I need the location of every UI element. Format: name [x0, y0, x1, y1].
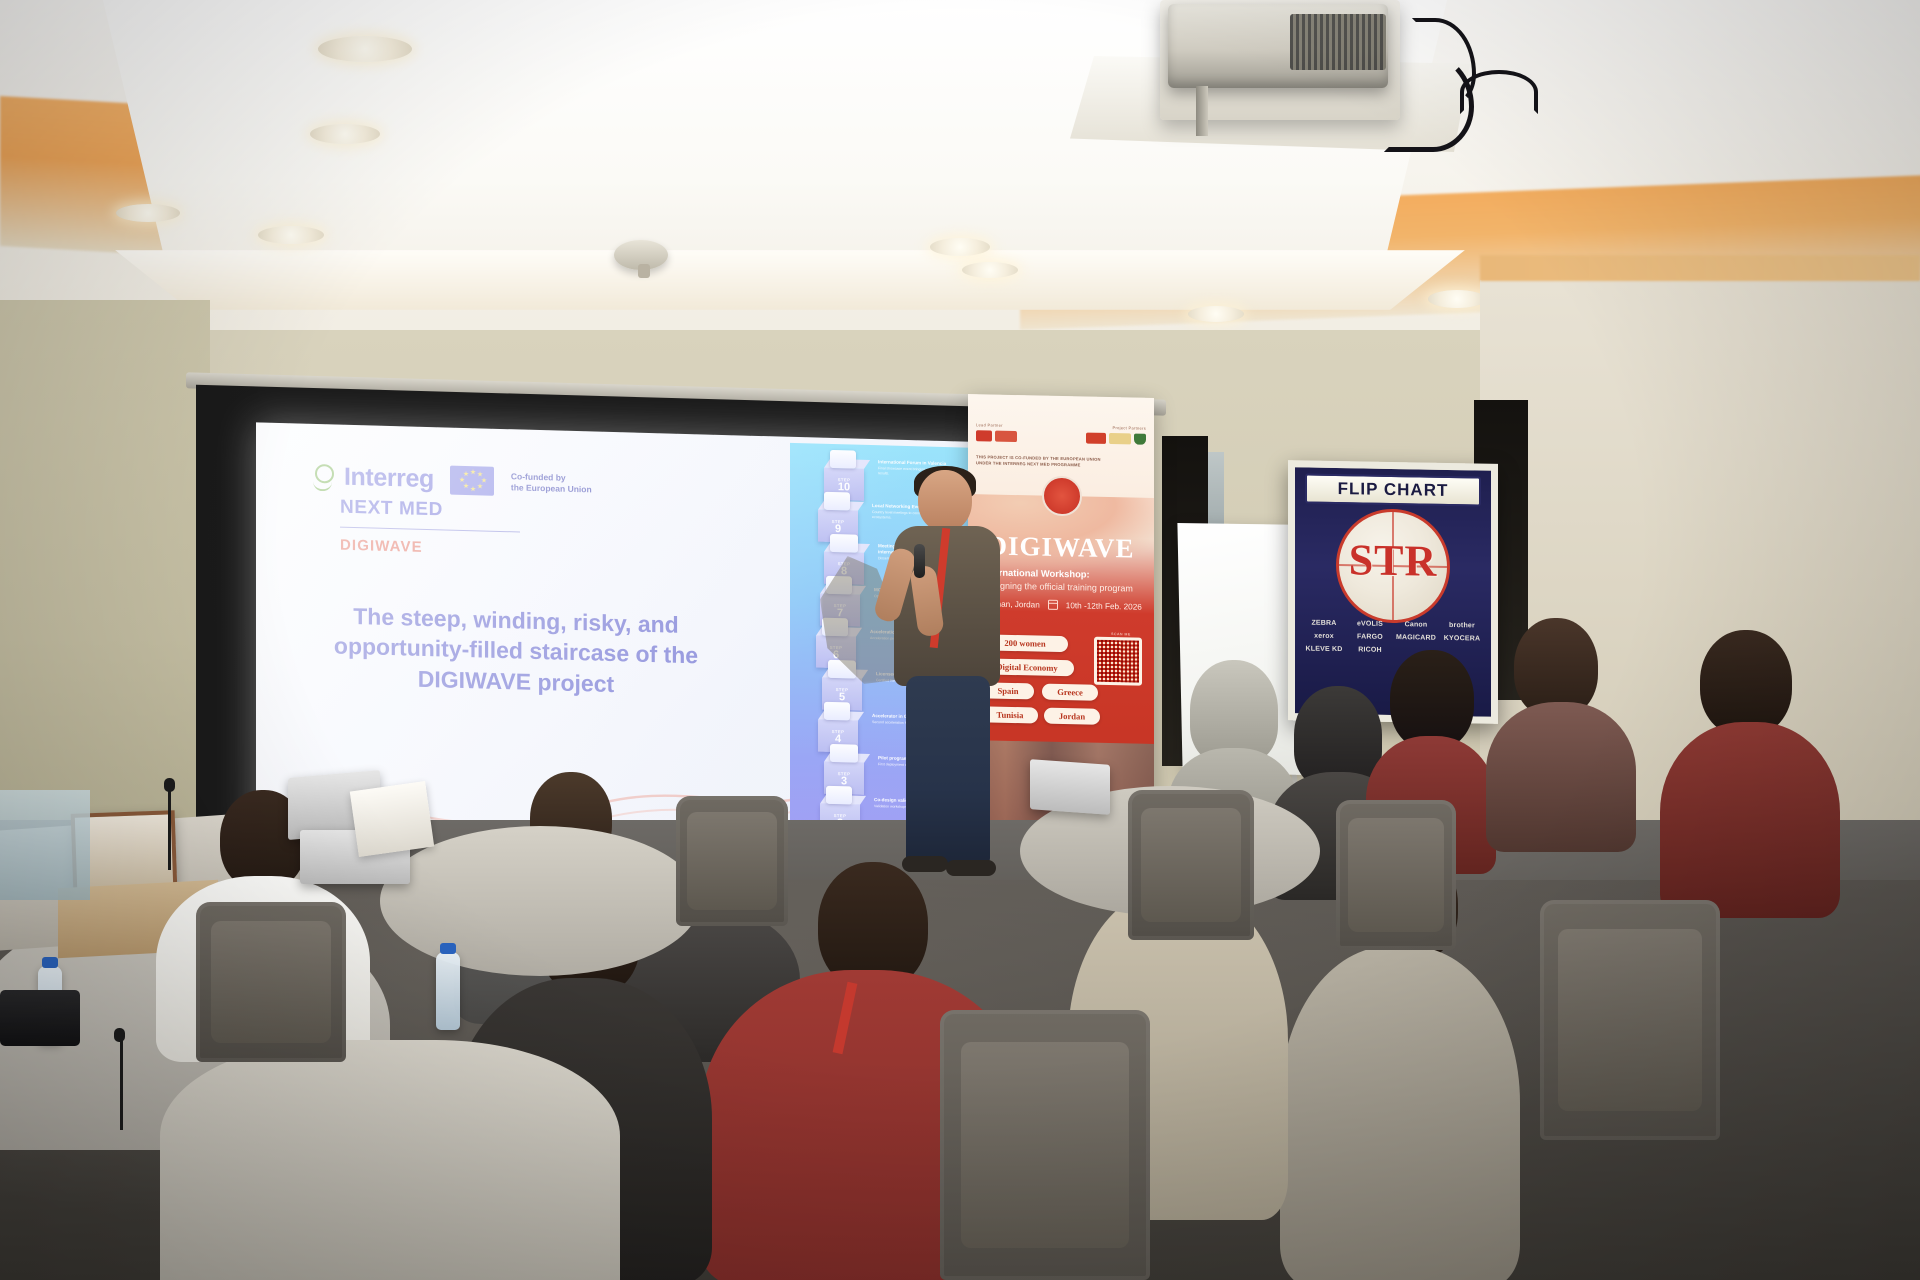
presenter	[880, 470, 1020, 880]
partner-logo-4	[1109, 433, 1131, 444]
bottle-cap	[42, 957, 58, 968]
ceiling-sprinkler	[638, 264, 650, 278]
calendar-icon	[1048, 600, 1058, 610]
logo-divider	[340, 527, 520, 533]
microphone-stand-left-2	[120, 1040, 123, 1130]
brand-logo-6: MAGICARD	[1395, 634, 1437, 642]
audience-head	[1700, 630, 1792, 736]
brand-logo-2: Canon	[1395, 621, 1437, 629]
downlight-8	[1188, 306, 1244, 322]
interreg-logo-lockup: Interreg ★ ★ ★ ★ ★ ★ ★ ★ Co-funded by	[312, 462, 592, 499]
step-number-9: STEP 9	[818, 519, 858, 536]
camera-foreground	[0, 990, 80, 1046]
banner-funding-note: THIS PROJECT IS CO-FUNDED BY THE EUROPEA…	[976, 454, 1126, 469]
chair-front-right	[1540, 900, 1720, 1140]
banner-partner-logos: Lead Partner Project Partners	[976, 422, 1146, 445]
brand-logo-4: xerox	[1303, 632, 1345, 640]
programme-name: NEXT MED	[340, 497, 443, 522]
chair-back-pad	[1141, 808, 1242, 922]
chair-back-pad	[961, 1042, 1129, 1247]
laptop-right	[1030, 759, 1110, 815]
interreg-mark-icon	[312, 463, 334, 490]
audience-member-far-right	[1486, 618, 1636, 848]
qr-code-icon	[1094, 637, 1142, 686]
step-number-4: STEP 4	[818, 729, 858, 746]
slide-title: The steep, winding, risky, and opportuni…	[296, 599, 736, 702]
partner-logo-2	[995, 431, 1017, 442]
projector-cable-3	[1460, 70, 1538, 114]
str-logo-wordmark: STR	[1349, 534, 1438, 587]
chair-back-pad	[1558, 929, 1702, 1111]
brand-logo-3: brother	[1441, 622, 1483, 630]
left-wall	[0, 300, 210, 860]
round-table-front	[160, 1040, 620, 1280]
audience-body	[1486, 702, 1636, 852]
audience-head	[1390, 650, 1474, 750]
audience-body	[1280, 946, 1520, 1280]
banner-pill-5: Jordan	[1044, 708, 1100, 725]
audience-body	[1660, 722, 1840, 918]
brand-logo-5: FARGO	[1349, 633, 1391, 641]
conference-room-photo: Interreg ★ ★ ★ ★ ★ ★ ★ ★ Co-funded by	[0, 0, 1920, 1280]
step-icon-9	[824, 492, 850, 511]
audience-member-edge-right	[1660, 630, 1840, 910]
presenter-microphone	[914, 544, 925, 578]
banner-dates: 10th -12th Feb. 2026	[1066, 601, 1142, 612]
brand-logo-8: KLEVE KD	[1303, 645, 1345, 653]
downlight-3	[258, 226, 324, 244]
chair-far-right	[1336, 800, 1456, 950]
projector-arm	[1196, 86, 1208, 136]
brand-logo-1: eVOLIS	[1349, 620, 1391, 628]
interreg-wordmark: Interreg	[344, 463, 434, 494]
downlight-2	[310, 124, 380, 144]
flip-chart-header: FLIP CHART	[1305, 473, 1481, 506]
chair-back-pad	[211, 921, 331, 1043]
bottle-cap	[440, 943, 456, 954]
eu-flag-icon: ★ ★ ★ ★ ★ ★ ★ ★	[450, 466, 494, 496]
partner-logo-3	[1086, 433, 1106, 444]
presenter-head	[918, 470, 972, 532]
downlight-7	[1428, 290, 1486, 308]
lead-partner-label: Lead Partner	[976, 422, 1017, 428]
project-partners-label: Project Partners	[1113, 425, 1146, 431]
presenter-legs	[906, 676, 990, 864]
banner-pill-3: Greece	[1042, 684, 1098, 701]
brand-logo-0: ZEBRA	[1303, 619, 1345, 627]
water-bottle-front	[436, 952, 460, 1030]
chair-right	[1128, 790, 1254, 940]
microphone-head-left-2	[114, 1028, 125, 1042]
chair-center	[676, 796, 788, 926]
downlight-1	[318, 36, 412, 62]
downlight-6	[962, 262, 1018, 278]
eu-funding-line-2: the European Union	[511, 482, 592, 495]
ceiling-edge-trim	[40, 250, 1540, 310]
chair-left	[196, 902, 346, 1062]
step-icon-8	[830, 534, 858, 553]
chair-back-pad	[1348, 818, 1444, 932]
step-icon-2	[826, 786, 852, 805]
brand-logo-7: KYOCERA	[1441, 635, 1483, 643]
step-icon-3	[830, 744, 858, 763]
step-icon-10	[830, 450, 856, 469]
chair-back-pad	[687, 812, 777, 911]
right-wall-light-band	[1480, 255, 1920, 281]
partner-logo-1	[976, 430, 992, 441]
step-icon-4	[824, 702, 850, 721]
banner-funding-line-2: UNDER THE INTERREG NEXT MED PROGRAMME	[976, 460, 1081, 467]
downlight-4	[116, 204, 180, 222]
projector-vents	[1290, 14, 1386, 70]
downlight-5	[930, 238, 990, 256]
window-left	[0, 790, 90, 900]
banner-seal-icon	[1042, 476, 1082, 517]
paper-stack	[350, 781, 434, 857]
partner-logo-5	[1134, 434, 1146, 445]
project-name: DIGIWAVE	[340, 537, 423, 556]
eu-stars: ★ ★ ★ ★ ★ ★ ★ ★	[450, 466, 494, 496]
round-table-center	[380, 826, 700, 976]
chair-front-center	[940, 1010, 1150, 1280]
